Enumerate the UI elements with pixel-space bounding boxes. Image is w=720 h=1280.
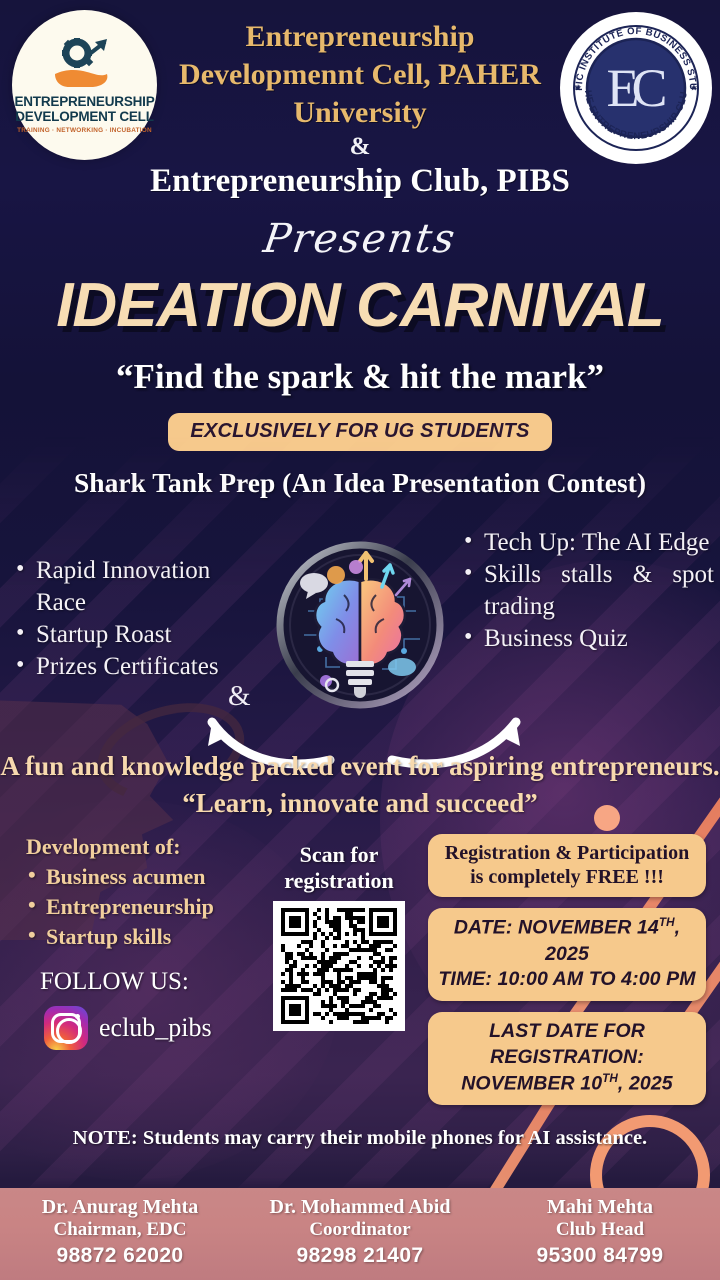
contact-name: Mahi Mehta [480, 1195, 720, 1219]
features-section: Rapid Innovation Race Startup Roast Priz… [0, 513, 720, 743]
list-item: Tech Up: The AI Edge [462, 527, 714, 559]
ec-logo-arc-text: PACIFIC INSTITUTE OF BUSINESS STUDIES TH… [570, 22, 702, 154]
qr-code-image[interactable] [280, 908, 398, 1024]
last-date-label: LAST DATE FOR REGISTRATION: [438, 1019, 696, 1070]
contact-role: Club Head [480, 1219, 720, 1242]
follow-us-label: FOLLOW US: [40, 968, 276, 996]
brain-lightbulb-graphic [274, 539, 446, 711]
qr-label-line2: registration [264, 868, 414, 894]
promo-text: A fun and knowledge packed event for asp… [0, 749, 720, 820]
event-title: IDEATION CARNIVAL [0, 270, 720, 341]
features-left-list: Rapid Innovation Race Startup Roast Priz… [14, 555, 239, 683]
eligibility-badge: EXCLUSIVELY FOR UG STUDENTS [168, 413, 551, 451]
list-item: Entrepreneurship [26, 894, 276, 920]
contact-name: Dr. Mohammed Abid [240, 1195, 480, 1219]
organiser-secondary: Entrepreneurship Club, PIBS [0, 163, 720, 200]
edc-logo-tagline: TRAINING · NETWORKING · INCUBATION [17, 127, 152, 134]
poster-root: ENTREPRENEURSHIP DEVELOPMENT CELL TRAINI… [0, 0, 720, 1280]
last-date-box: LAST DATE FOR REGISTRATION: NOVEMBER 10T… [428, 1012, 706, 1105]
free-line-2: is completely FREE !!! [438, 865, 696, 889]
edc-logo-line1: ENTREPRENEURSHIP [14, 95, 154, 110]
last-date-value: NOVEMBER 10TH, 2025 [438, 1071, 696, 1097]
gear-hand-arrow-icon [51, 36, 119, 92]
instagram-row[interactable]: eclub_pibs [44, 1006, 276, 1050]
qr-block: Scan for registration [264, 842, 414, 1031]
contact-phone[interactable]: 98872 62020 [0, 1244, 240, 1268]
instagram-icon[interactable] [44, 1006, 88, 1050]
brain-ai-icon [274, 539, 446, 711]
list-item: Prizes Certificates [14, 651, 239, 683]
contact-phone[interactable]: 95300 84799 [480, 1244, 720, 1268]
edc-logo-line2: DEVELOPMENT CELL [15, 110, 154, 125]
contact-phone[interactable]: 98298 21407 [240, 1244, 480, 1268]
poster-header: ENTREPRENEURSHIP DEVELOPMENT CELL TRAINI… [0, 0, 720, 200]
note-text: NOTE: Students may carry their mobile ph… [0, 1127, 720, 1150]
event-date: DATE: NOVEMBER 14TH, 2025 [438, 915, 696, 967]
list-item: Business acumen [26, 864, 276, 890]
features-ampersand: & [228, 680, 251, 713]
features-right-list: Tech Up: The AI Edge Skills stalls & spo… [462, 527, 714, 655]
contacts-footer: Dr. Anurag Mehta Chairman, EDC 98872 620… [0, 1188, 720, 1280]
contact-name: Dr. Anurag Mehta [0, 1195, 240, 1219]
list-item: Rapid Innovation Race [14, 555, 239, 619]
list-item: Business Quiz [462, 623, 714, 655]
event-time: TIME: 10:00 AM TO 4:00 PM [438, 967, 696, 993]
development-heading: Development of: [26, 834, 276, 860]
list-item: Skills stalls & spot trading [462, 559, 714, 623]
contact-card: Dr. Anurag Mehta Chairman, EDC 98872 620… [0, 1188, 240, 1280]
free-registration-box: Registration & Participation is complete… [428, 834, 706, 897]
eligibility-badge-wrap: EXCLUSIVELY FOR UG STUDENTS [0, 413, 720, 451]
event-tagline: “Find the spark & hit the mark” [0, 357, 720, 397]
presents-label: Presents [0, 216, 720, 262]
qr-label-line1: Scan for [264, 842, 414, 868]
list-item: Startup skills [26, 924, 276, 950]
date-time-box: DATE: NOVEMBER 14TH, 2025 TIME: 10:00 AM… [428, 908, 706, 1001]
last-date-ordinal: TH [602, 1072, 618, 1085]
contact-role: Chairman, EDC [0, 1219, 240, 1242]
development-list: Business acumen Entrepreneurship Startup… [26, 864, 276, 950]
date-ordinal: TH [659, 916, 675, 929]
promo-quote: “Learn, innovate and succeed” [0, 786, 720, 820]
contact-card: Dr. Mohammed Abid Coordinator 98298 2140… [240, 1188, 480, 1280]
organiser-line-3: University [170, 94, 550, 132]
svg-text:PACIFIC INSTITUTE OF BUSINESS: PACIFIC INSTITUTE OF BUSINESS STUDIES [570, 22, 698, 91]
qr-code[interactable] [273, 901, 405, 1031]
edc-logo: ENTREPRENEURSHIP DEVELOPMENT CELL TRAINI… [12, 10, 157, 160]
instagram-handle[interactable]: eclub_pibs [99, 1013, 212, 1043]
ec-club-logo: PACIFIC INSTITUTE OF BUSINESS STUDIES TH… [560, 12, 712, 164]
contact-card: Mahi Mehta Club Head 95300 84799 [480, 1188, 720, 1280]
star-icon: ★ [574, 83, 582, 94]
organiser-line-1: Entrepreneurship [170, 18, 550, 56]
development-block: Development of: Business acumen Entrepre… [26, 834, 276, 1050]
event-subtitle: Shark Tank Prep (An Idea Presentation Co… [0, 467, 720, 499]
info-column: Registration & Participation is complete… [428, 834, 706, 1115]
list-item: Startup Roast [14, 619, 239, 651]
organiser-line-2: Developmennt Cell, PAHER [170, 56, 550, 94]
promo-line: A fun and knowledge packed event for asp… [0, 751, 719, 781]
free-line-1: Registration & Participation [438, 841, 696, 865]
contact-role: Coordinator [240, 1219, 480, 1242]
star-icon: ★ [690, 83, 698, 94]
lower-section: Development of: Business acumen Entrepre… [0, 834, 720, 1089]
